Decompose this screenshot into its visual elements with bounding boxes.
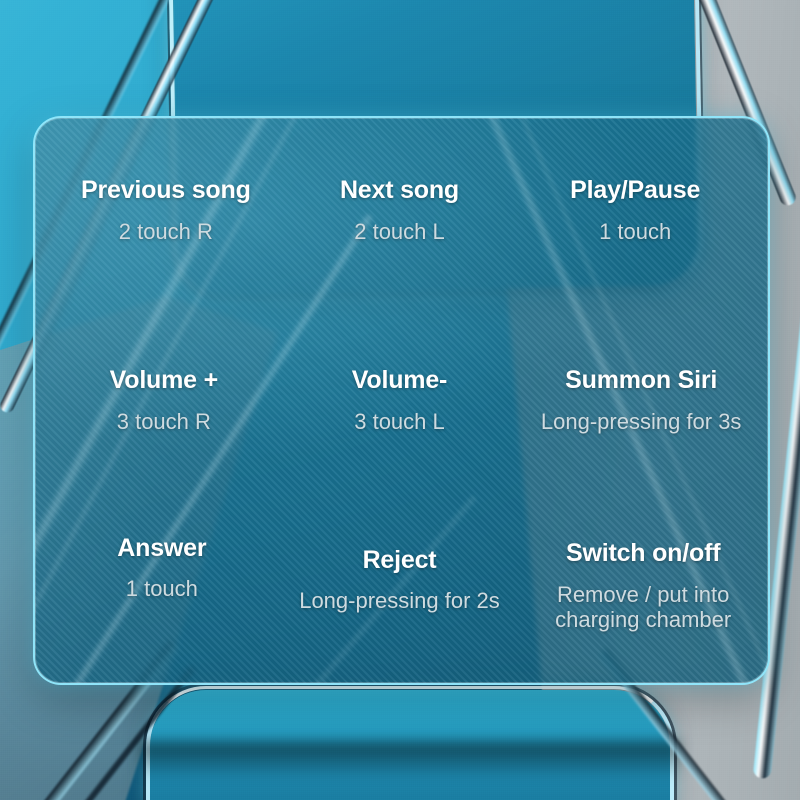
action-cell-volume-down: Volume- 3 touch L xyxy=(281,312,519,490)
action-gesture-summon-siri: Long-pressing for 3s xyxy=(541,409,742,434)
action-title-summon-siri: Summon Siri xyxy=(565,367,717,395)
action-cell-volume-up: Volume + 3 touch R xyxy=(45,312,283,490)
action-gesture-play-pause: 1 touch xyxy=(599,219,671,244)
action-gesture-previous-song: 2 touch R xyxy=(119,219,213,244)
action-gesture-volume-up: 3 touch R xyxy=(117,409,211,434)
action-gesture-volume-down: 3 touch L xyxy=(354,409,445,434)
action-cell-switch-on-off: Switch on/off Remove / put into charging… xyxy=(524,497,762,675)
action-gesture-switch-on-off: Remove / put into charging chamber xyxy=(530,582,756,633)
touch-control-panel: Previous song 2 touch R Next song 2 touc… xyxy=(33,116,770,685)
action-title-play-pause: Play/Pause xyxy=(570,177,700,205)
action-title-switch-on-off: Switch on/off xyxy=(566,540,720,568)
action-cell-play-pause: Play/Pause 1 touch xyxy=(516,122,754,300)
action-cell-next-song: Next song 2 touch L xyxy=(281,122,519,300)
action-title-volume-up: Volume + xyxy=(110,367,218,395)
action-cell-reject: Reject Long-pressing for 2s xyxy=(281,491,519,669)
action-gesture-next-song: 2 touch L xyxy=(354,219,445,244)
action-grid: Previous song 2 touch R Next song 2 touc… xyxy=(35,118,768,683)
action-cell-answer: Answer 1 touch xyxy=(43,479,281,657)
action-gesture-answer: 1 touch xyxy=(126,576,198,601)
action-title-previous-song: Previous song xyxy=(81,177,251,205)
action-title-reject: Reject xyxy=(363,547,437,575)
action-title-volume-down: Volume- xyxy=(352,367,447,395)
action-cell-previous-song: Previous song 2 touch R xyxy=(47,122,285,300)
action-title-next-song: Next song xyxy=(340,177,459,205)
action-title-answer: Answer xyxy=(117,535,206,563)
action-cell-summon-siri: Summon Siri Long-pressing for 3s xyxy=(522,312,760,490)
screenshot-stage: Previous song 2 touch R Next song 2 touc… xyxy=(0,0,800,800)
action-gesture-reject: Long-pressing for 2s xyxy=(299,588,500,613)
